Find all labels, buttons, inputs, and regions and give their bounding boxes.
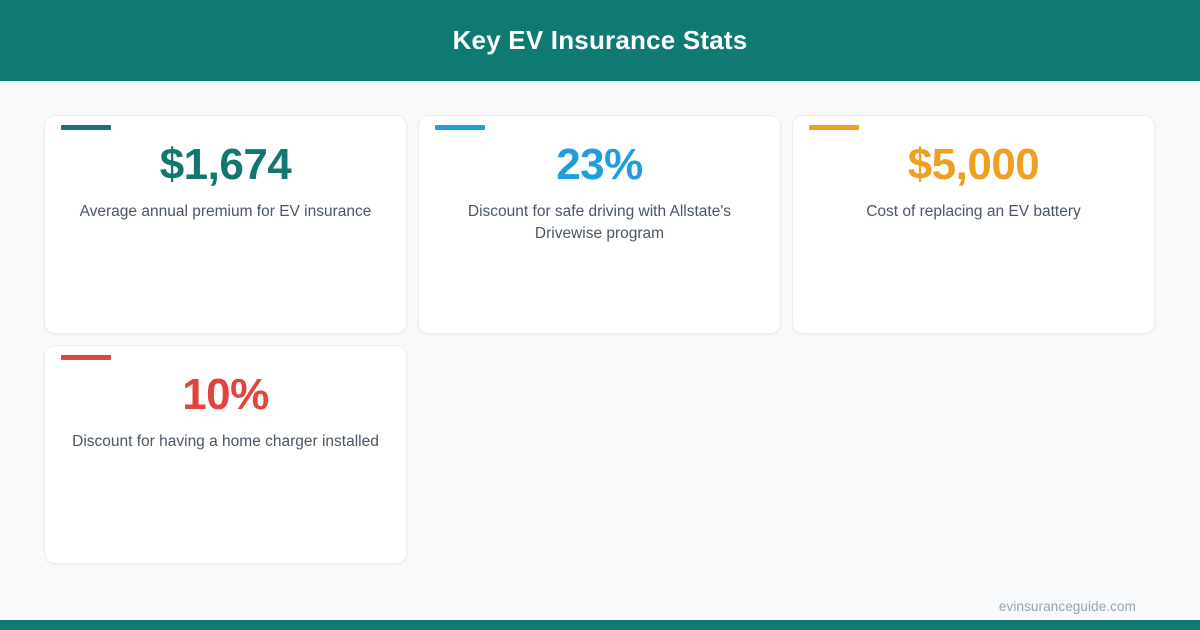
stat-card: $5,000 Cost of replacing an EV battery xyxy=(792,115,1155,334)
watermark: evinsuranceguide.com xyxy=(999,599,1136,614)
stat-label: Cost of replacing an EV battery xyxy=(866,201,1081,223)
stat-label: Average annual premium for EV insurance xyxy=(80,201,372,223)
stat-value: 23% xyxy=(556,143,643,188)
stat-value: $1,674 xyxy=(160,143,292,188)
page-header: Key EV Insurance Stats xyxy=(0,0,1200,81)
teal-accent-bar xyxy=(61,125,111,130)
page-title: Key EV Insurance Stats xyxy=(453,25,748,56)
stat-card: 10% Discount for having a home charger i… xyxy=(44,345,407,564)
blue-accent-bar xyxy=(435,125,485,130)
stat-label: Discount for safe driving with Allstate'… xyxy=(443,201,756,245)
stats-area: $1,674 Average annual premium for EV ins… xyxy=(0,81,1200,564)
stat-value: 10% xyxy=(182,373,269,418)
red-accent-bar xyxy=(61,355,111,360)
stat-value: $5,000 xyxy=(908,143,1040,188)
stat-card: 23% Discount for safe driving with Allst… xyxy=(418,115,781,334)
bottom-accent-bar xyxy=(0,620,1200,630)
stat-label: Discount for having a home charger insta… xyxy=(72,431,379,453)
orange-accent-bar xyxy=(809,125,859,130)
stats-grid: $1,674 Average annual premium for EV ins… xyxy=(44,115,1156,564)
stat-card: $1,674 Average annual premium for EV ins… xyxy=(44,115,407,334)
